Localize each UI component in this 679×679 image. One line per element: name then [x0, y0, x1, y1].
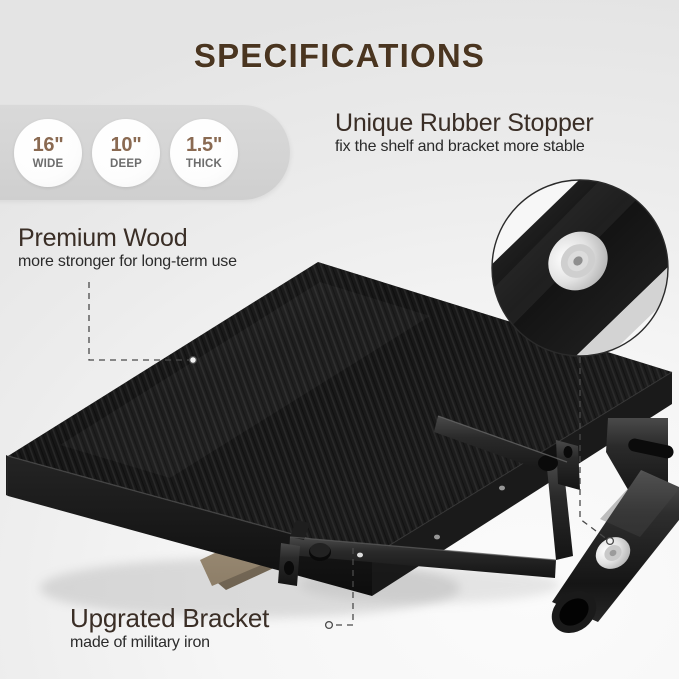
callout-subtext: fix the shelf and bracket more stable	[335, 138, 593, 156]
leader-premium-wood	[89, 282, 190, 360]
callout-rubber-stopper: Unique Rubber Stopper fix the shelf and …	[335, 110, 593, 156]
spec-badge-group: 16" WIDE 10" DEEP 1.5" THICK	[0, 105, 290, 200]
badge-label: THICK	[186, 159, 222, 171]
spec-badge-thickness: 1.5" THICK	[170, 119, 238, 187]
callout-premium-wood: Premium Wood more stronger for long-term…	[18, 225, 237, 271]
badge-number: 16"	[33, 135, 64, 155]
callout-subtext: made of military iron	[70, 634, 269, 652]
callout-heading: Unique Rubber Stopper	[335, 110, 593, 136]
callout-upgraded-bracket: Upgrated Bracket made of military iron	[70, 605, 269, 652]
bracket-screw-hole	[357, 553, 363, 558]
callout-subtext: more stronger for long-term use	[18, 253, 237, 271]
callout-heading: Upgrated Bracket	[70, 605, 269, 632]
spec-badge-depth: 10" DEEP	[92, 119, 160, 187]
badge-label: DEEP	[110, 159, 142, 171]
product-illustration	[0, 0, 679, 679]
page-title: SPECIFICATIONS	[0, 37, 679, 75]
badge-number: 10"	[111, 135, 142, 155]
badge-label: WIDE	[33, 159, 64, 171]
spec-badge-width: 16" WIDE	[14, 119, 82, 187]
callout-heading: Premium Wood	[18, 225, 237, 251]
infographic-canvas: SPECIFICATIONS 16" WIDE 10" DEEP 1.5" TH…	[0, 0, 679, 679]
badge-number: 1.5"	[186, 135, 222, 155]
